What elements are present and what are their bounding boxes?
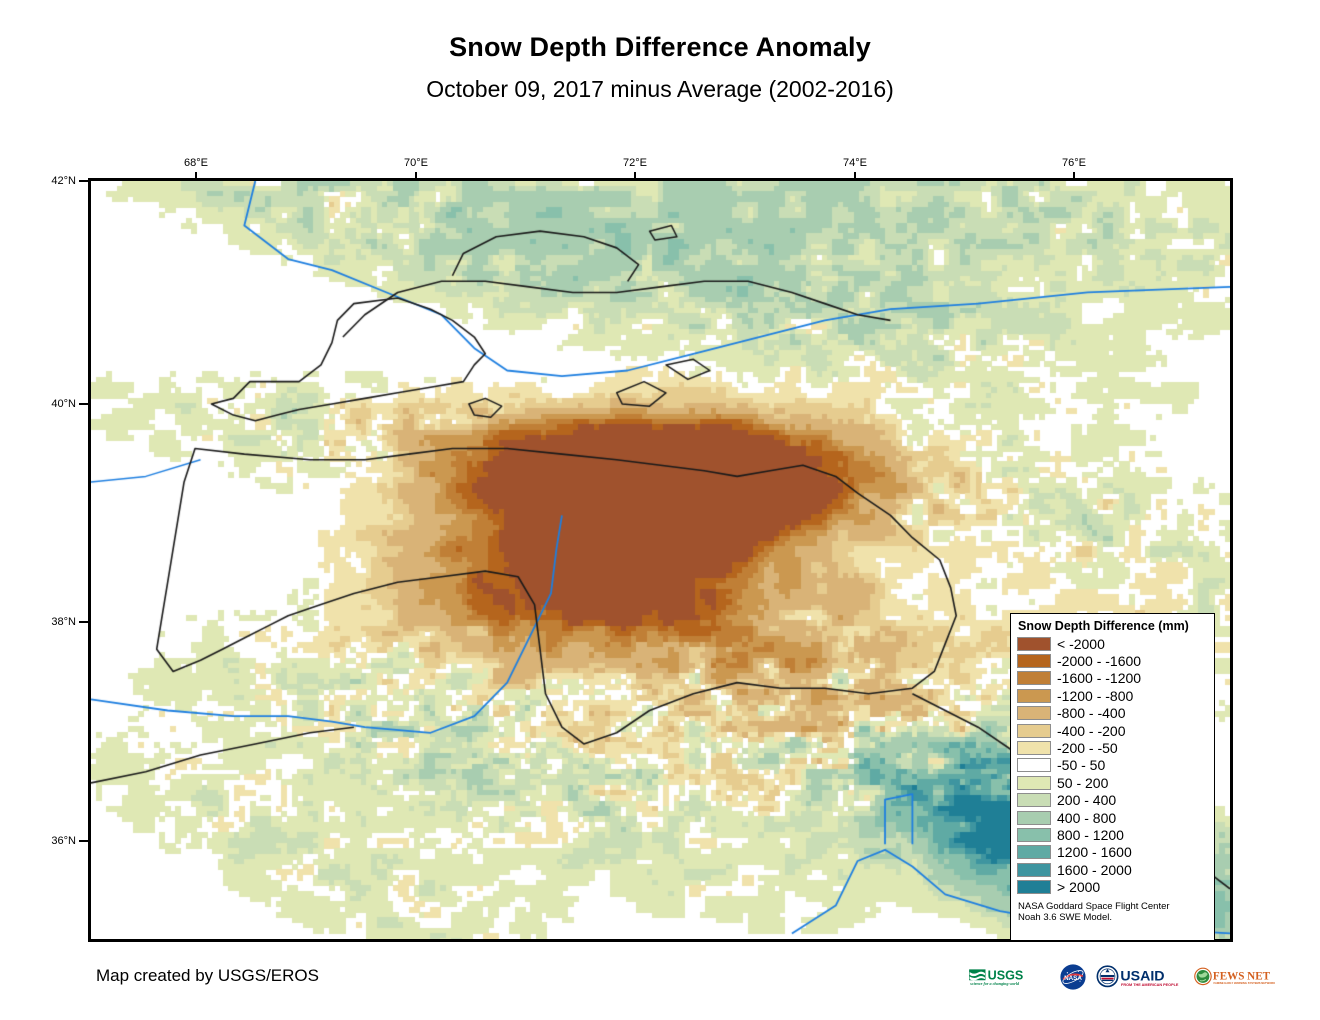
lat-tick bbox=[79, 621, 88, 623]
legend-title: Snow Depth Difference (mm) bbox=[1018, 619, 1208, 633]
lon-tick-label: 76°E bbox=[1062, 157, 1086, 169]
fewsnet-logo: FEWS NET FAMINE EARLY WARNING SYSTEMS NE… bbox=[1193, 962, 1275, 992]
legend-swatch bbox=[1017, 671, 1051, 685]
legend-label: -1200 - -800 bbox=[1057, 689, 1133, 703]
lon-tick-label: 70°E bbox=[404, 157, 428, 169]
legend-label: 200 - 400 bbox=[1057, 793, 1116, 807]
legend-swatch bbox=[1017, 637, 1051, 651]
legend-label: 1600 - 2000 bbox=[1057, 863, 1132, 877]
legend-label: < -2000 bbox=[1057, 637, 1105, 651]
page-subtitle: October 09, 2017 minus Average (2002-201… bbox=[0, 76, 1320, 103]
lat-tick-label: 38°N bbox=[44, 616, 76, 628]
lat-tick bbox=[79, 403, 88, 405]
legend-row: 800 - 1200 bbox=[1017, 826, 1208, 843]
lon-tick bbox=[195, 172, 197, 181]
legend-label: 800 - 1200 bbox=[1057, 828, 1124, 842]
lat-tick-label: 40°N bbox=[44, 398, 76, 410]
legend-label: 400 - 800 bbox=[1057, 811, 1116, 825]
legend-label: -50 - 50 bbox=[1057, 758, 1105, 772]
legend-row: -1200 - -800 bbox=[1017, 687, 1208, 704]
legend-label: 50 - 200 bbox=[1057, 776, 1108, 790]
legend-row: 400 - 800 bbox=[1017, 809, 1208, 826]
svg-text:FROM THE AMERICAN PEOPLE: FROM THE AMERICAN PEOPLE bbox=[1121, 983, 1179, 987]
lat-tick bbox=[79, 180, 88, 182]
legend-label: 1200 - 1600 bbox=[1057, 845, 1132, 859]
legend-row: 1600 - 2000 bbox=[1017, 861, 1208, 878]
legend-row: -400 - -200 bbox=[1017, 722, 1208, 739]
legend-row: 200 - 400 bbox=[1017, 792, 1208, 809]
lon-tick-label: 68°E bbox=[184, 157, 208, 169]
lat-tick-label: 36°N bbox=[44, 835, 76, 847]
agency-logo-row: USGS science for a changing world NASA U… bbox=[968, 960, 1275, 994]
lat-tick-label: 42°N bbox=[44, 175, 76, 187]
legend-label: -800 - -400 bbox=[1057, 706, 1125, 720]
map-legend: Snow Depth Difference (mm) < -2000-2000 … bbox=[1010, 613, 1215, 941]
legend-note-line-1: NASA Goddard Space Flight Center bbox=[1018, 901, 1208, 913]
legend-row: -1600 - -1200 bbox=[1017, 670, 1208, 687]
legend-row: -2000 - -1600 bbox=[1017, 652, 1208, 669]
legend-row: > 2000 bbox=[1017, 878, 1208, 895]
legend-row: -800 - -400 bbox=[1017, 705, 1208, 722]
legend-row: -200 - -50 bbox=[1017, 739, 1208, 756]
legend-row: 1200 - 1600 bbox=[1017, 844, 1208, 861]
legend-swatch bbox=[1017, 845, 1051, 859]
legend-label: > 2000 bbox=[1057, 880, 1100, 894]
legend-swatch bbox=[1017, 811, 1051, 825]
svg-text:science for a changing world: science for a changing world bbox=[969, 981, 1020, 986]
legend-row: -50 - 50 bbox=[1017, 757, 1208, 774]
usaid-logo: USAID FROM THE AMERICAN PEOPLE bbox=[1096, 962, 1184, 992]
legend-label: -1600 - -1200 bbox=[1057, 671, 1141, 685]
legend-swatch bbox=[1017, 654, 1051, 668]
legend-swatch bbox=[1017, 706, 1051, 720]
legend-swatch bbox=[1017, 880, 1051, 894]
svg-text:FAMINE EARLY WARNING SYSTEMS N: FAMINE EARLY WARNING SYSTEMS NETWORK bbox=[1214, 981, 1276, 985]
legend-swatch bbox=[1017, 863, 1051, 877]
lon-tick bbox=[854, 172, 856, 181]
usgs-logo: USGS science for a changing world bbox=[968, 962, 1050, 992]
lon-tick bbox=[415, 172, 417, 181]
lon-tick-label: 74°E bbox=[843, 157, 867, 169]
svg-text:NASA: NASA bbox=[1064, 975, 1082, 982]
legend-class-list: < -2000-2000 - -1600-1600 - -1200-1200 -… bbox=[1017, 635, 1208, 896]
map-credit: Map created by USGS/EROS bbox=[96, 966, 319, 986]
page-title: Snow Depth Difference Anomaly bbox=[0, 32, 1320, 63]
svg-text:USGS: USGS bbox=[988, 969, 1024, 983]
legend-swatch bbox=[1017, 758, 1051, 772]
legend-source-note: NASA Goddard Space Flight Center Noah 3.… bbox=[1018, 901, 1208, 924]
legend-label: -2000 - -1600 bbox=[1057, 654, 1141, 668]
lon-tick bbox=[1073, 172, 1075, 181]
legend-swatch bbox=[1017, 689, 1051, 703]
legend-swatch bbox=[1017, 793, 1051, 807]
lon-tick-label: 72°E bbox=[623, 157, 647, 169]
legend-row: 50 - 200 bbox=[1017, 774, 1208, 791]
lat-tick bbox=[79, 840, 88, 842]
legend-label: -400 - -200 bbox=[1057, 724, 1125, 738]
legend-swatch bbox=[1017, 828, 1051, 842]
legend-swatch bbox=[1017, 776, 1051, 790]
legend-note-line-2: Noah 3.6 SWE Model. bbox=[1018, 912, 1208, 924]
legend-swatch bbox=[1017, 741, 1051, 755]
lon-tick bbox=[634, 172, 636, 181]
svg-text:USAID: USAID bbox=[1120, 968, 1164, 984]
legend-row: < -2000 bbox=[1017, 635, 1208, 652]
legend-label: -200 - -50 bbox=[1057, 741, 1118, 755]
svg-text:FEWS NET: FEWS NET bbox=[1213, 970, 1271, 982]
nasa-logo: NASA bbox=[1059, 962, 1087, 992]
legend-swatch bbox=[1017, 724, 1051, 738]
